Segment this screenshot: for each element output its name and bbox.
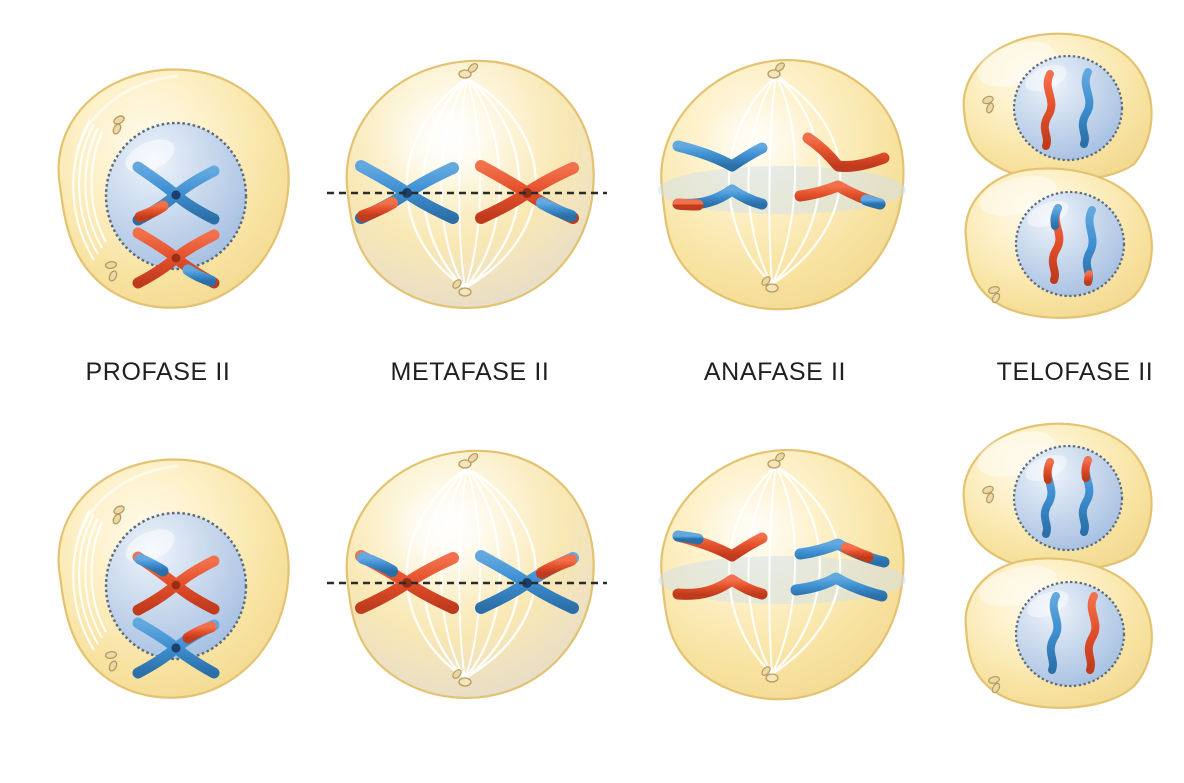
label-profase-ii: PROFASE II — [58, 358, 258, 387]
stage-profase-ii — [18, 28, 308, 328]
cell-body — [658, 450, 906, 699]
stage-telofase-ii-b — [946, 414, 1176, 724]
nuclear-envelope — [1014, 56, 1122, 160]
label-metafase-ii: METAFASE II — [370, 358, 570, 387]
stage-anafase-ii-b — [640, 428, 920, 718]
chromosome-tip-blue — [1054, 208, 1058, 226]
nuclear-envelope — [1014, 446, 1122, 550]
daughter-cell-lower — [966, 168, 1152, 317]
stage-metafase-ii-b — [325, 428, 615, 718]
nuclear-envelope — [1016, 582, 1124, 686]
centromere — [171, 643, 180, 652]
daughter-cell-upper — [964, 33, 1152, 181]
daughter-cell-lower — [966, 558, 1152, 707]
cell-body — [658, 60, 906, 309]
centromere — [171, 190, 180, 199]
stage-profase-ii-b — [18, 418, 308, 718]
label-telofase-ii: TELOFASE II — [975, 358, 1175, 387]
chromosome-tip-red-2 — [1085, 460, 1088, 478]
chromosome-tip-red — [1088, 274, 1089, 282]
centromere — [172, 254, 181, 263]
centromere — [172, 581, 181, 590]
daughter-cell-upper — [964, 423, 1152, 571]
nuclear-envelope — [1016, 192, 1124, 296]
chromosome-tip-red — [1047, 462, 1050, 480]
label-anafase-ii: ANAFASE II — [675, 358, 875, 387]
stage-anafase-ii — [640, 38, 920, 328]
stage-metafase-ii — [325, 38, 615, 328]
stage-telofase-ii — [946, 24, 1176, 334]
